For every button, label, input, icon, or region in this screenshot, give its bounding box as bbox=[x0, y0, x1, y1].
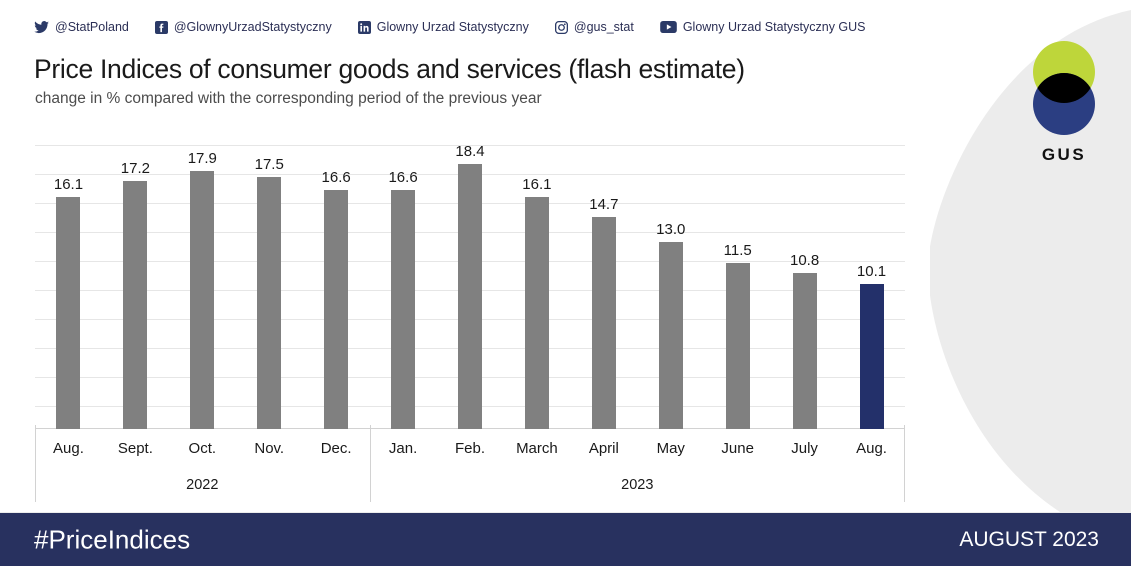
bar-series: 16.117.217.917.516.616.618.416.114.713.0… bbox=[35, 140, 905, 429]
bar[interactable] bbox=[860, 284, 884, 429]
bar-slot: 10.1 bbox=[838, 140, 905, 429]
bar-value-label: 17.9 bbox=[188, 150, 217, 167]
axis-end-tick bbox=[35, 425, 36, 502]
bar-slot: 17.2 bbox=[102, 140, 169, 429]
month-label: March bbox=[503, 429, 570, 469]
month-label: Nov. bbox=[236, 429, 303, 469]
linkedin-icon bbox=[358, 21, 371, 34]
gus-logo-text: GUS bbox=[1026, 145, 1102, 165]
bar[interactable] bbox=[592, 217, 616, 429]
month-label: June bbox=[704, 429, 771, 469]
x-axis-year-labels: 20222023 bbox=[35, 469, 905, 502]
footer-hashtag: #PriceIndices bbox=[34, 524, 190, 555]
month-label: Oct. bbox=[169, 429, 236, 469]
bar-value-label: 18.4 bbox=[455, 143, 484, 160]
bar-value-label: 17.5 bbox=[255, 156, 284, 173]
bar-slot: 16.1 bbox=[503, 140, 570, 429]
infographic-canvas: @StatPoland @GlownyUrzadStatystyczny Glo… bbox=[0, 0, 1131, 566]
social-link-facebook[interactable]: @GlownyUrzadStatystyczny bbox=[155, 20, 332, 34]
bar-value-label: 17.2 bbox=[121, 160, 150, 177]
bar[interactable] bbox=[56, 197, 80, 429]
bar-value-label: 16.6 bbox=[388, 169, 417, 186]
bar[interactable] bbox=[123, 181, 147, 429]
bar[interactable] bbox=[324, 190, 348, 429]
month-label: Jan. bbox=[370, 429, 437, 469]
facebook-icon bbox=[155, 21, 168, 34]
month-label: Aug. bbox=[35, 429, 102, 469]
social-label: @StatPoland bbox=[55, 20, 129, 34]
year-label: 2023 bbox=[621, 477, 653, 493]
bar-slot: 16.1 bbox=[35, 140, 102, 429]
bar-value-label: 10.1 bbox=[857, 263, 886, 280]
month-label: Sept. bbox=[102, 429, 169, 469]
bar[interactable] bbox=[659, 242, 683, 429]
bar-slot: 16.6 bbox=[303, 140, 370, 429]
bar-value-label: 14.7 bbox=[589, 196, 618, 213]
social-label: Glowny Urzad Statystyczny GUS bbox=[683, 20, 866, 34]
bar-value-label: 13.0 bbox=[656, 221, 685, 238]
month-label: Feb. bbox=[437, 429, 504, 469]
bar-slot: 13.0 bbox=[637, 140, 704, 429]
social-label: Glowny Urzad Statystyczny bbox=[377, 20, 529, 34]
bar[interactable] bbox=[793, 273, 817, 429]
year-group-separator bbox=[370, 425, 371, 502]
bar[interactable] bbox=[190, 171, 214, 429]
social-media-bar: @StatPoland @GlownyUrzadStatystyczny Glo… bbox=[34, 20, 892, 34]
twitter-icon bbox=[34, 21, 49, 34]
bar-slot: 10.8 bbox=[771, 140, 838, 429]
bar-value-label: 11.5 bbox=[724, 242, 752, 259]
bar-value-label: 16.1 bbox=[522, 176, 551, 193]
year-label: 2022 bbox=[186, 477, 218, 493]
social-label: @gus_stat bbox=[574, 20, 634, 34]
social-label: @GlownyUrzadStatystyczny bbox=[174, 20, 332, 34]
page-title: Price Indices of consumer goods and serv… bbox=[34, 54, 745, 85]
bar[interactable] bbox=[726, 263, 750, 429]
footer-bar: #PriceIndices AUGUST 2023 bbox=[0, 513, 1131, 566]
bar-slot: 11.5 bbox=[704, 140, 771, 429]
bar[interactable] bbox=[525, 197, 549, 429]
x-axis-month-labels: Aug.Sept.Oct.Nov.Dec.Jan.Feb.MarchAprilM… bbox=[35, 429, 905, 469]
bar-slot: 17.9 bbox=[169, 140, 236, 429]
bar[interactable] bbox=[391, 190, 415, 429]
plot-area: 16.117.217.917.516.616.618.416.114.713.0… bbox=[35, 140, 905, 429]
bar-slot: 14.7 bbox=[570, 140, 637, 429]
page-subtitle: change in % compared with the correspond… bbox=[35, 90, 542, 108]
bar-chart: 16.117.217.917.516.616.618.416.114.713.0… bbox=[35, 140, 905, 502]
month-label: Aug. bbox=[838, 429, 905, 469]
instagram-icon bbox=[555, 21, 568, 34]
month-label: Dec. bbox=[303, 429, 370, 469]
bar-value-label: 16.6 bbox=[322, 169, 351, 186]
bar-slot: 18.4 bbox=[437, 140, 504, 429]
month-label: July bbox=[771, 429, 838, 469]
bar-slot: 16.6 bbox=[370, 140, 437, 429]
footer-period: AUGUST 2023 bbox=[959, 528, 1099, 552]
axis-end-tick bbox=[904, 425, 905, 502]
social-link-youtube[interactable]: Glowny Urzad Statystyczny GUS bbox=[660, 20, 866, 34]
social-link-twitter[interactable]: @StatPoland bbox=[34, 20, 129, 34]
month-label: April bbox=[570, 429, 637, 469]
bar-value-label: 16.1 bbox=[54, 176, 83, 193]
social-link-linkedin[interactable]: Glowny Urzad Statystyczny bbox=[358, 20, 529, 34]
bar[interactable] bbox=[458, 164, 482, 429]
gus-logo: GUS bbox=[1026, 41, 1102, 171]
month-label: May bbox=[637, 429, 704, 469]
bar[interactable] bbox=[257, 177, 281, 429]
youtube-icon bbox=[660, 21, 677, 33]
social-link-instagram[interactable]: @gus_stat bbox=[555, 20, 634, 34]
bar-value-label: 10.8 bbox=[790, 252, 819, 269]
bar-slot: 17.5 bbox=[236, 140, 303, 429]
